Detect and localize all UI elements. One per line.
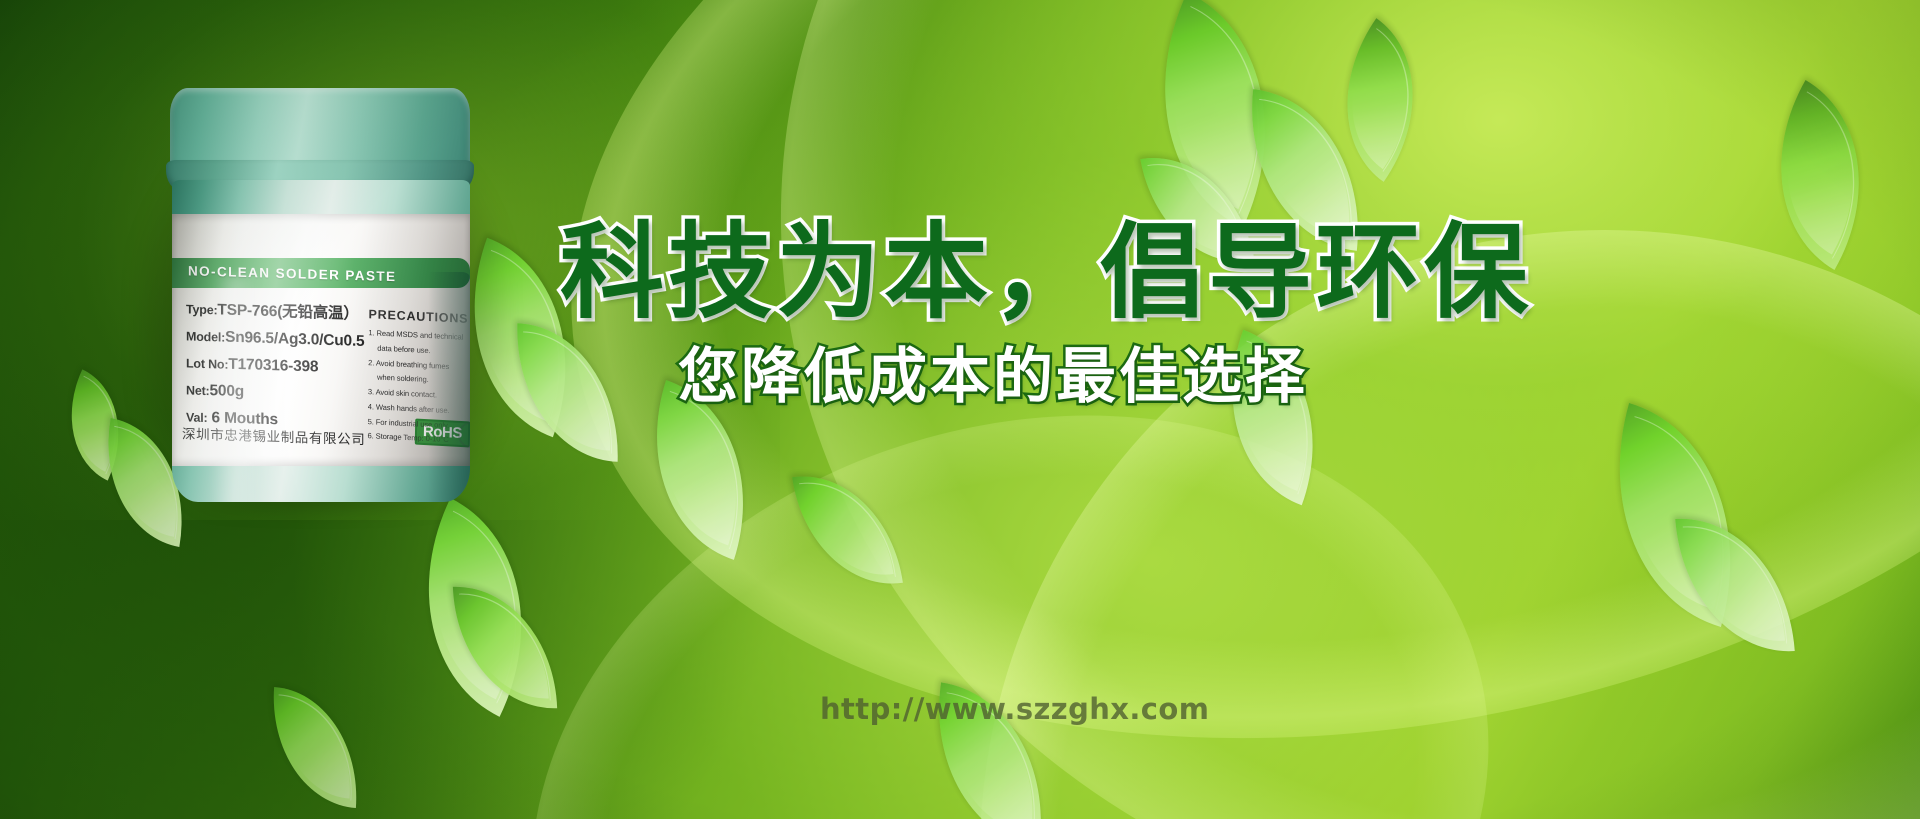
label-title-band: NO-CLEAN SOLDER PASTE bbox=[172, 258, 470, 288]
banner-copy: 科技为本，倡导环保 您降低成本的最佳选择 bbox=[560, 218, 1860, 410]
leaf-midrib bbox=[799, 472, 896, 588]
leaf-midrib bbox=[1682, 520, 1787, 650]
label-value-lot: T170316-398 bbox=[228, 356, 318, 376]
leaf-vein bbox=[461, 594, 549, 702]
leaf-icon bbox=[1577, 403, 1774, 627]
leaf-icon bbox=[1675, 511, 1794, 658]
website-url[interactable]: http://www.szzghx.com bbox=[820, 692, 1209, 726]
leaf-midrib bbox=[1311, 28, 1449, 172]
label-band-title: NO-CLEAN SOLDER PASTE bbox=[172, 262, 396, 283]
leaf-icon bbox=[1107, 0, 1323, 228]
leaf-vein bbox=[1685, 523, 1785, 647]
precaution-item: 5. For industrial use only. bbox=[368, 417, 470, 433]
product-label: NO-CLEAN SOLDER PASTE Type:TSP-766(无铅高温）… bbox=[172, 214, 470, 466]
leaf-midrib bbox=[1589, 416, 1762, 613]
leaf-midrib bbox=[272, 694, 358, 800]
precaution-item: 4. Wash hands after use. bbox=[368, 402, 470, 418]
precaution-item: 6. Storage Temp: 0-10°C bbox=[367, 432, 470, 448]
leaf-vein bbox=[1592, 421, 1757, 609]
leaf-vein bbox=[1314, 31, 1445, 169]
leaf-midrib bbox=[386, 511, 564, 703]
label-key-model: Model: bbox=[186, 329, 225, 344]
label-value-net: 500g bbox=[210, 382, 245, 400]
page-title: 科技为本，倡导环保 bbox=[560, 218, 1860, 326]
banner-subtitle: 您降低成本的最佳选择 bbox=[678, 344, 1860, 410]
label-key-lot: Lot No: bbox=[186, 356, 228, 371]
leaf-vein bbox=[390, 516, 560, 700]
leaf-midrib bbox=[1120, 6, 1310, 213]
label-value-model: Sn96.5/Ag3.0/Cu0.5 bbox=[225, 329, 364, 350]
label-key-net: Net: bbox=[186, 383, 210, 398]
precaution-item: when soldering. bbox=[368, 373, 470, 389]
leaf-vein bbox=[801, 475, 894, 586]
label-key-type: Type: bbox=[186, 302, 217, 317]
precaution-item: 1. Read MSDS and technical bbox=[368, 328, 470, 344]
jar-body: NO-CLEAN SOLDER PASTE Type:TSP-766(无铅高温）… bbox=[172, 180, 470, 502]
leaf-midrib bbox=[459, 591, 551, 704]
leaf-icon bbox=[374, 498, 577, 717]
precautions-title: PRECAUTIONS bbox=[368, 307, 470, 327]
precaution-item: 3. Avoid skin contact. bbox=[368, 387, 470, 403]
promo-banner: NO-CLEAN SOLDER PASTE Type:TSP-766(无铅高温）… bbox=[0, 0, 1920, 819]
leaf-icon bbox=[453, 583, 557, 711]
leaf-icon bbox=[266, 687, 364, 808]
precaution-item: 2. Avoid breathing fumes bbox=[368, 358, 470, 374]
product-jar-image: NO-CLEAN SOLDER PASTE Type:TSP-766(无铅高温）… bbox=[156, 88, 486, 508]
label-precautions-block: PRECAUTIONS 1. Read MSDS and technical d… bbox=[367, 307, 470, 452]
leaf-vein bbox=[1124, 11, 1306, 209]
leaf-vein bbox=[274, 697, 356, 799]
label-value-type: TSP-766(无铅高温） bbox=[217, 301, 358, 322]
precaution-item: data before use. bbox=[368, 343, 470, 359]
leaf-icon bbox=[1302, 18, 1458, 182]
leaf-icon bbox=[792, 464, 903, 596]
